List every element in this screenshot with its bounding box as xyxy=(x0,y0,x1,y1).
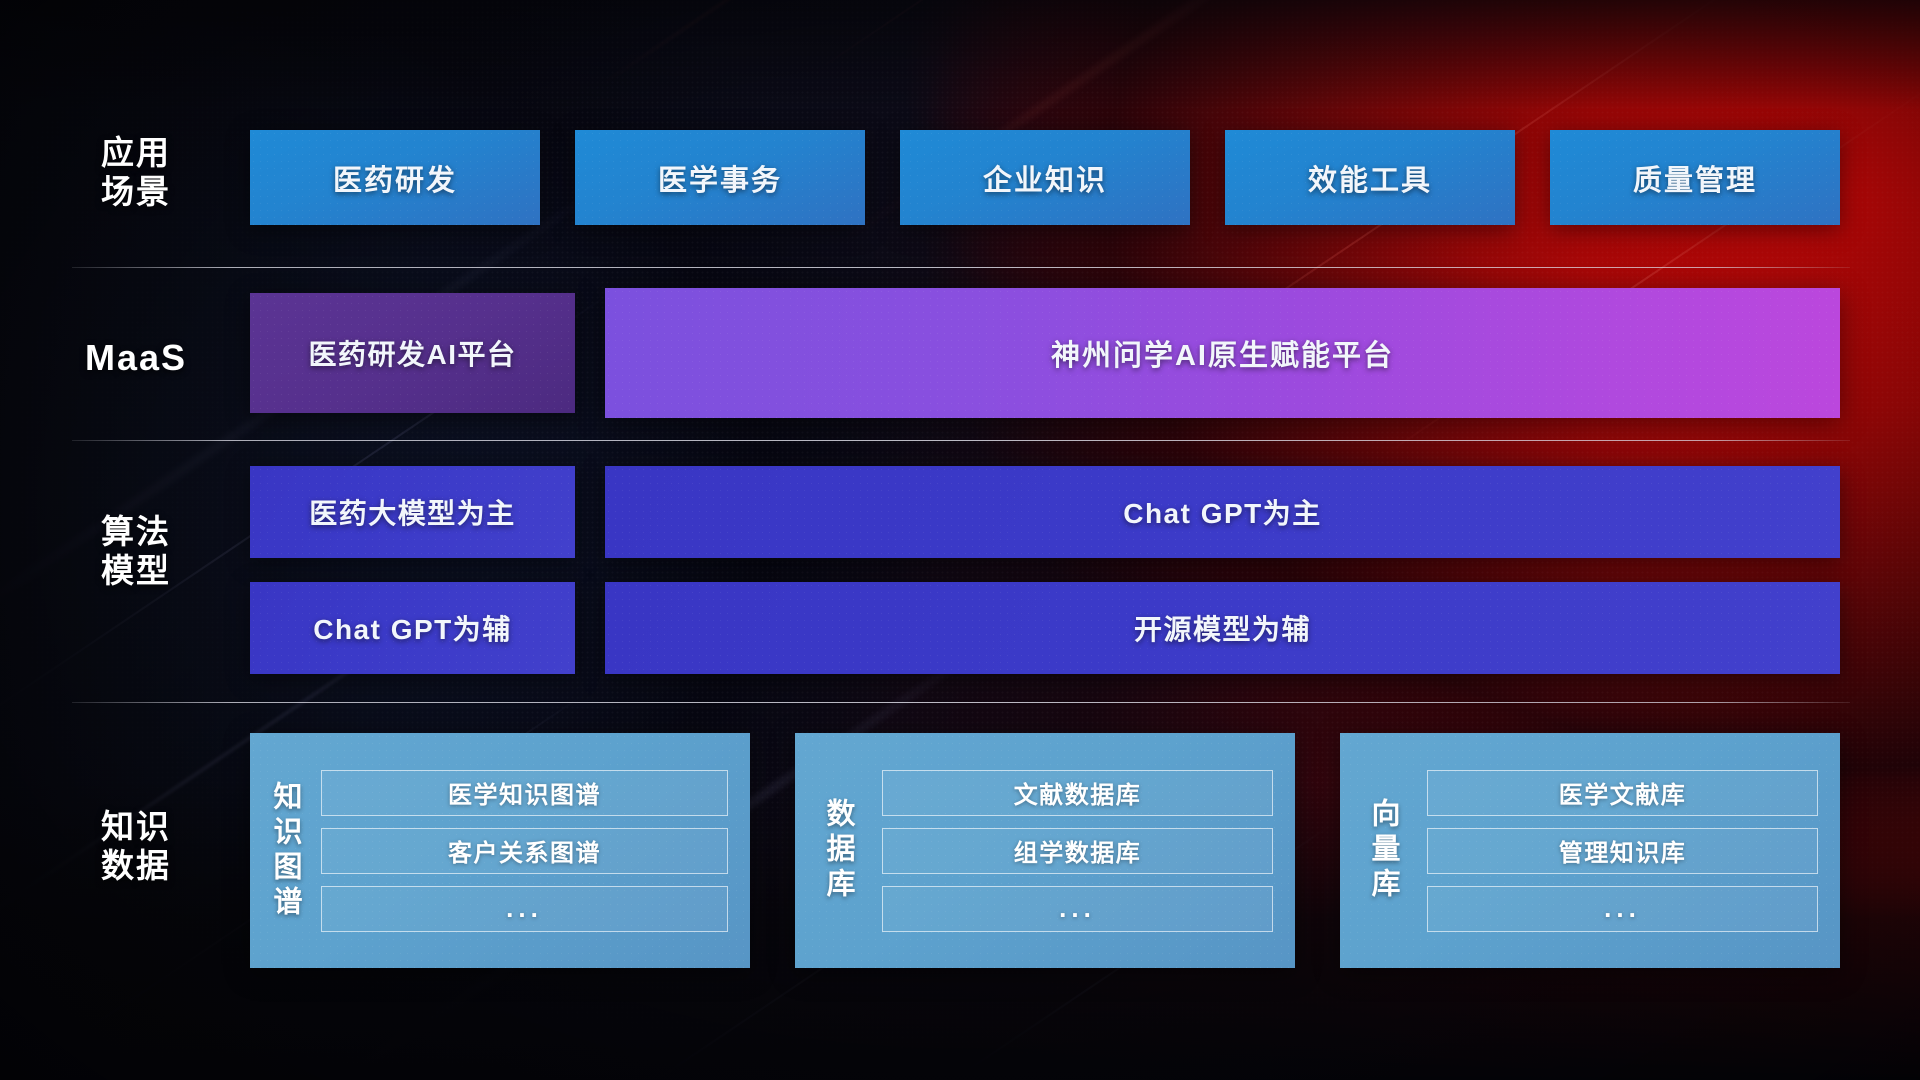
row-label-application-scenario: 应用 场景 xyxy=(72,134,200,212)
app-card-label: 企业知识 xyxy=(983,157,1107,199)
knowledge-item-label: 医学知识图谱 xyxy=(448,775,601,810)
app-card-label: 质量管理 xyxy=(1633,157,1757,199)
maas-card-label: 神州问学AI原生赋能平台 xyxy=(1051,332,1394,374)
knowledge-item-label: ... xyxy=(1604,893,1641,924)
knowledge-item[interactable]: 组学数据库 xyxy=(882,828,1273,874)
app-card-zhiliang-guanli[interactable]: 质量管理 xyxy=(1550,130,1840,225)
knowledge-item-more[interactable]: ... xyxy=(321,886,728,932)
maas-card-yiyao-yanfa-ai-platform[interactable]: 医药研发AI平台 xyxy=(250,293,575,413)
knowledge-item-label: 客户关系图谱 xyxy=(448,833,601,868)
divider-row3-row4 xyxy=(72,702,1850,703)
knowledge-item-label: ... xyxy=(1059,893,1096,924)
knowledge-group-database[interactable]: 数据库 文献数据库 组学数据库 ... xyxy=(795,733,1295,968)
knowledge-group-item-list: 医学知识图谱 客户关系图谱 ... xyxy=(321,770,728,932)
knowledge-item-label: 组学数据库 xyxy=(1014,833,1142,868)
divider-row2-row3 xyxy=(72,440,1850,441)
maas-card-label: 医药研发AI平台 xyxy=(308,333,516,373)
maas-card-shenzhou-wenxue-platform[interactable]: 神州问学AI原生赋能平台 xyxy=(605,288,1840,418)
knowledge-group-item-list: 医学文献库 管理知识库 ... xyxy=(1427,770,1818,932)
row-label-algorithm-model: 算法 模型 xyxy=(72,513,200,591)
app-card-xiaoneng-gongju[interactable]: 效能工具 xyxy=(1225,130,1515,225)
algo-card-medical-large-model-primary[interactable]: 医药大模型为主 xyxy=(250,466,575,558)
knowledge-item-label: 医学文献库 xyxy=(1559,775,1687,810)
knowledge-item[interactable]: 管理知识库 xyxy=(1427,828,1818,874)
algo-card-label: 医药大模型为主 xyxy=(309,492,516,532)
divider-row1-row2 xyxy=(72,267,1850,268)
knowledge-group-title: 向量库 xyxy=(1368,798,1397,903)
knowledge-item-more[interactable]: ... xyxy=(1427,886,1818,932)
knowledge-item[interactable]: 医学知识图谱 xyxy=(321,770,728,816)
app-card-yiyao-yanfa[interactable]: 医药研发 xyxy=(250,130,540,225)
knowledge-item-more[interactable]: ... xyxy=(882,886,1273,932)
row-label-knowledge-data: 知识 数据 xyxy=(72,808,200,886)
knowledge-item-label: 管理知识库 xyxy=(1559,833,1687,868)
app-card-label: 医学事务 xyxy=(658,157,782,199)
algo-card-opensource-secondary[interactable]: 开源模型为辅 xyxy=(605,582,1840,674)
app-card-qiye-zhishi[interactable]: 企业知识 xyxy=(900,130,1190,225)
algo-card-label: 开源模型为辅 xyxy=(1134,608,1311,648)
algo-card-label: Chat GPT为辅 xyxy=(313,608,512,648)
knowledge-group-title: 知识图谱 xyxy=(270,781,299,921)
knowledge-group-graph[interactable]: 知识图谱 医学知识图谱 客户关系图谱 ... xyxy=(250,733,750,968)
algo-card-chatgpt-secondary[interactable]: Chat GPT为辅 xyxy=(250,582,575,674)
app-card-label: 医药研发 xyxy=(333,157,457,199)
row-label-maas: MaaS xyxy=(72,337,200,379)
knowledge-item[interactable]: 客户关系图谱 xyxy=(321,828,728,874)
knowledge-item[interactable]: 文献数据库 xyxy=(882,770,1273,816)
knowledge-item[interactable]: 医学文献库 xyxy=(1427,770,1818,816)
algo-card-chatgpt-primary[interactable]: Chat GPT为主 xyxy=(605,466,1840,558)
app-card-label: 效能工具 xyxy=(1308,157,1432,199)
algo-card-label: Chat GPT为主 xyxy=(1123,492,1322,532)
knowledge-item-label: 文献数据库 xyxy=(1014,775,1142,810)
knowledge-item-label: ... xyxy=(506,893,543,924)
knowledge-group-title: 数据库 xyxy=(823,798,852,903)
app-card-yixue-shiwu[interactable]: 医学事务 xyxy=(575,130,865,225)
knowledge-group-item-list: 文献数据库 组学数据库 ... xyxy=(882,770,1273,932)
knowledge-group-vector[interactable]: 向量库 医学文献库 管理知识库 ... xyxy=(1340,733,1840,968)
